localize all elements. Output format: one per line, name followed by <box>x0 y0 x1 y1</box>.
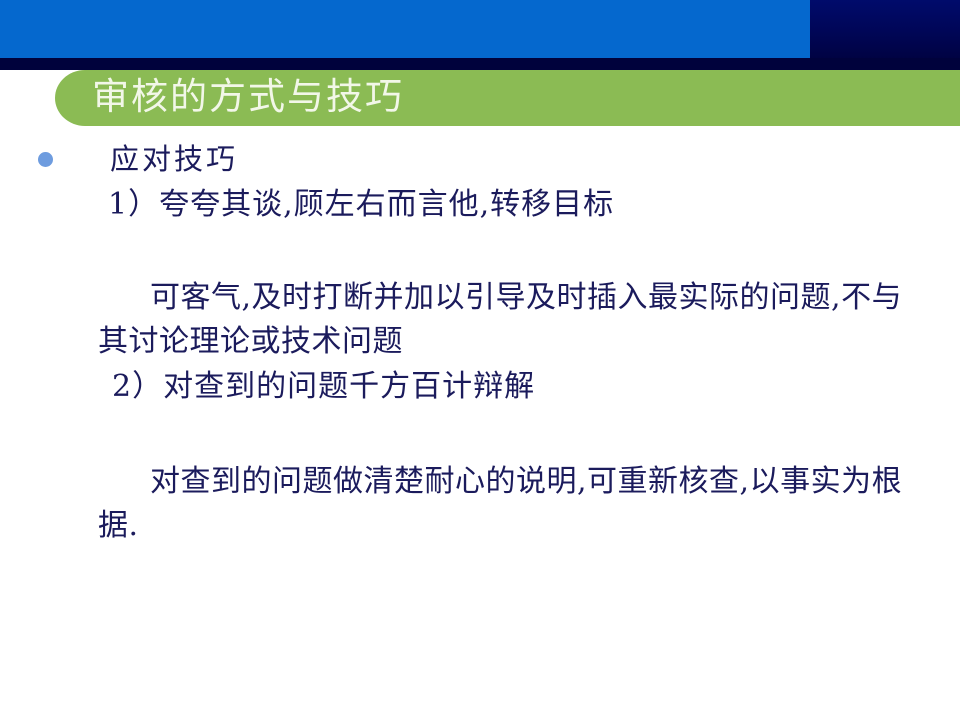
paragraph-1: 可客气,及时打断并加以引导及时插入最实际的问题,不与其讨论理论或技术问题 <box>98 276 910 364</box>
bullet-item-coping-skills: 应对技巧 <box>38 140 918 178</box>
slide-body: 应对技巧 1）夸夸其谈,顾左右而言他,转移目标 可客气,及时打断并加以引导及时插… <box>0 126 960 720</box>
bullet-dot-icon <box>38 152 53 167</box>
page-title: 审核的方式与技巧 <box>92 70 404 126</box>
header-navy-divider <box>0 58 960 70</box>
slide-header: 审核的方式与技巧 <box>0 0 960 126</box>
paragraph-2-text: 对查到的问题做清楚耐心的说明,可重新核查,以事实为根据. <box>98 464 902 543</box>
paragraph-2: 对查到的问题做清楚耐心的说明,可重新核查,以事实为根据. <box>98 460 910 548</box>
numbered-item-2: 2）对查到的问题千方百计辩解 <box>112 366 535 408</box>
numbered-item-1: 1）夸夸其谈,顾左右而言他,转移目标 <box>108 184 614 226</box>
paragraph-1-text: 可客气,及时打断并加以引导及时插入最实际的问题,不与其讨论理论或技术问题 <box>98 280 902 359</box>
header-blue-bar <box>0 0 810 58</box>
bullet-item-label: 应对技巧 <box>110 140 238 178</box>
